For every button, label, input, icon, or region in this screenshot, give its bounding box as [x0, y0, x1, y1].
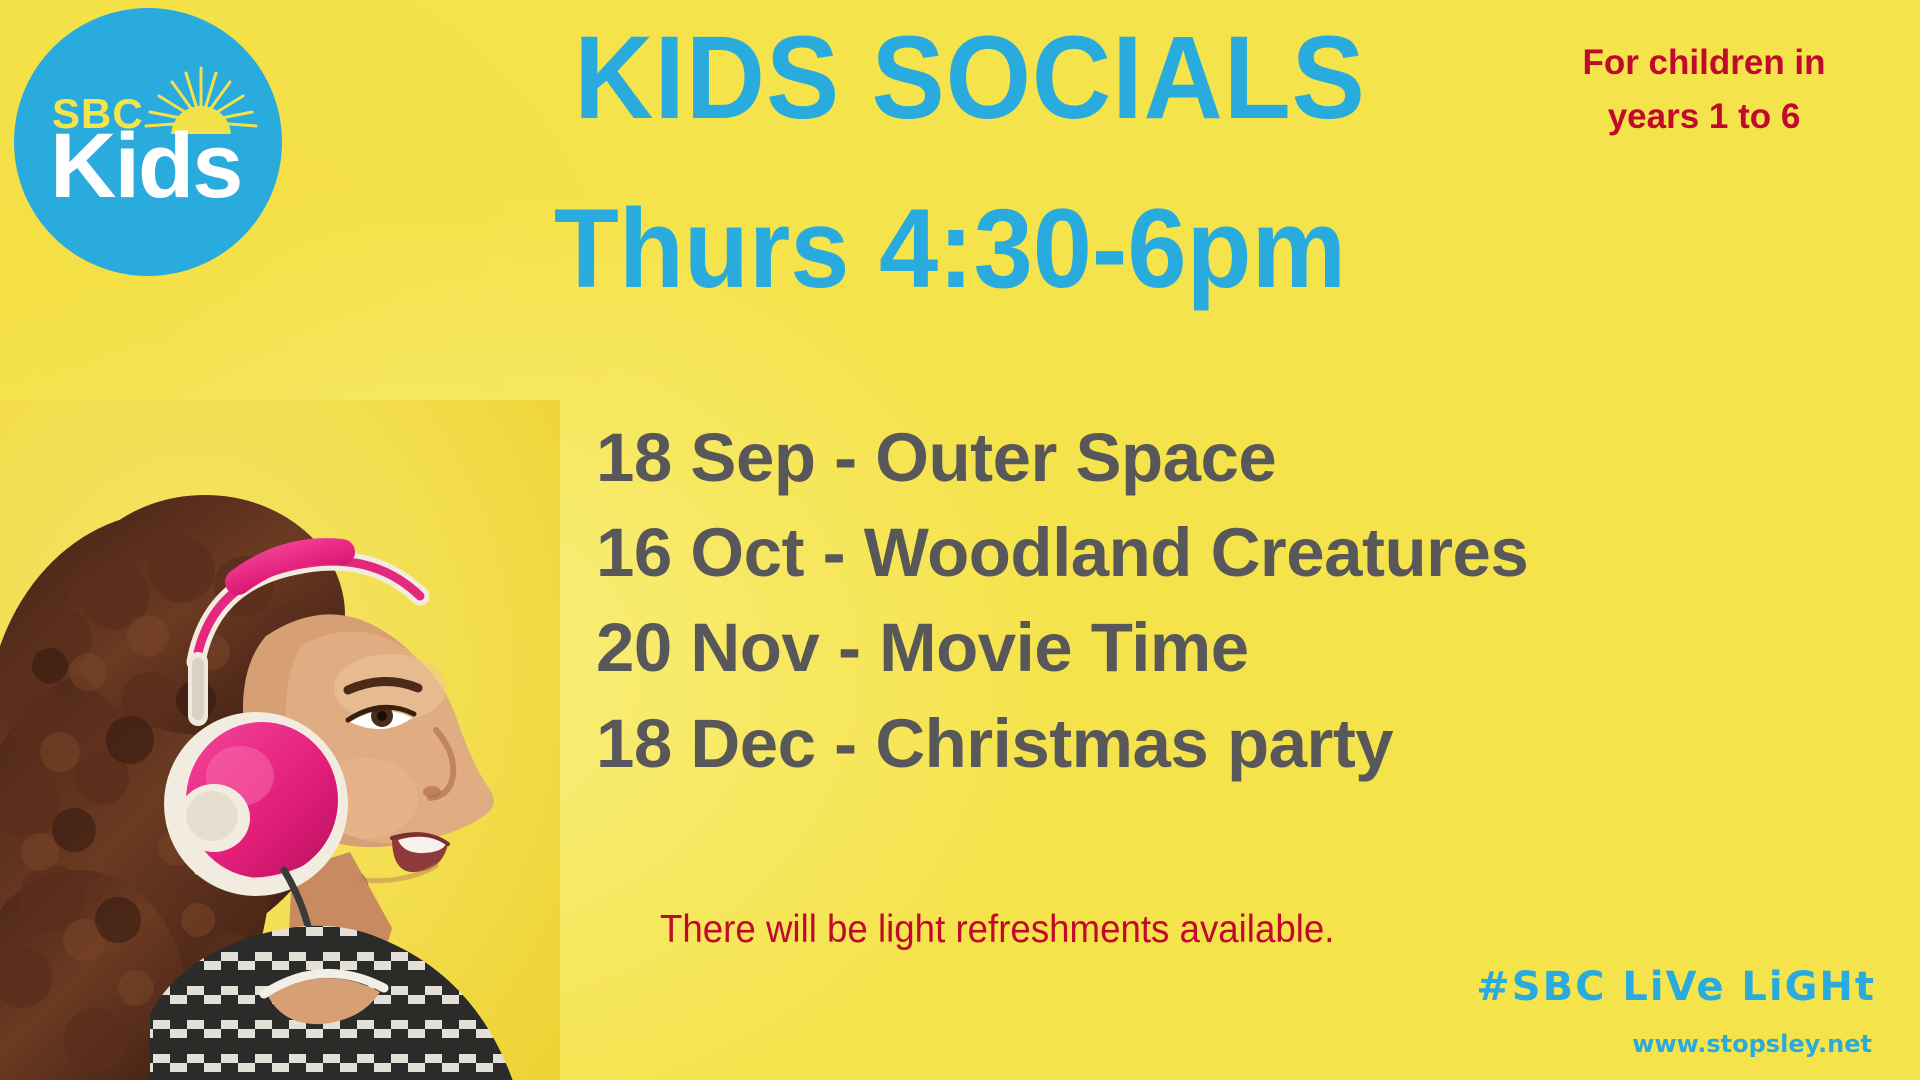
list-item: 16 Oct - Woodland Creatures — [596, 505, 1716, 600]
page-title: KIDS SOCIALS — [552, 18, 1389, 138]
age-note-line-2: years 1 to 6 — [1524, 90, 1884, 144]
age-note-line-1: For children in — [1524, 36, 1884, 90]
campaign-hashtag: #SBC LiVe LiGHt — [1476, 964, 1876, 1010]
logo-kids-text: Kids — [50, 120, 241, 212]
list-item: 18 Sep - Outer Space — [596, 410, 1716, 505]
refreshments-note: There will be light refreshments availab… — [660, 908, 1334, 952]
list-item: 18 Dec - Christmas party — [596, 696, 1716, 791]
list-item: 20 Nov - Movie Time — [596, 600, 1716, 695]
kids-socials-poster: SBC Kids KIDS SOCIALS Thurs 4:30-6pm — [0, 0, 1920, 1080]
sbc-kids-logo: SBC Kids — [14, 8, 282, 276]
session-list: 18 Sep - Outer Space 16 Oct - Woodland C… — [596, 410, 1716, 791]
girl-with-headphones-photo — [0, 400, 560, 1080]
age-eligibility-note: For children in years 1 to 6 — [1524, 36, 1884, 145]
schedule-time-heading: Thurs 4:30-6pm — [494, 190, 1406, 308]
website-url[interactable]: www.stopsley.net — [1632, 1030, 1872, 1058]
